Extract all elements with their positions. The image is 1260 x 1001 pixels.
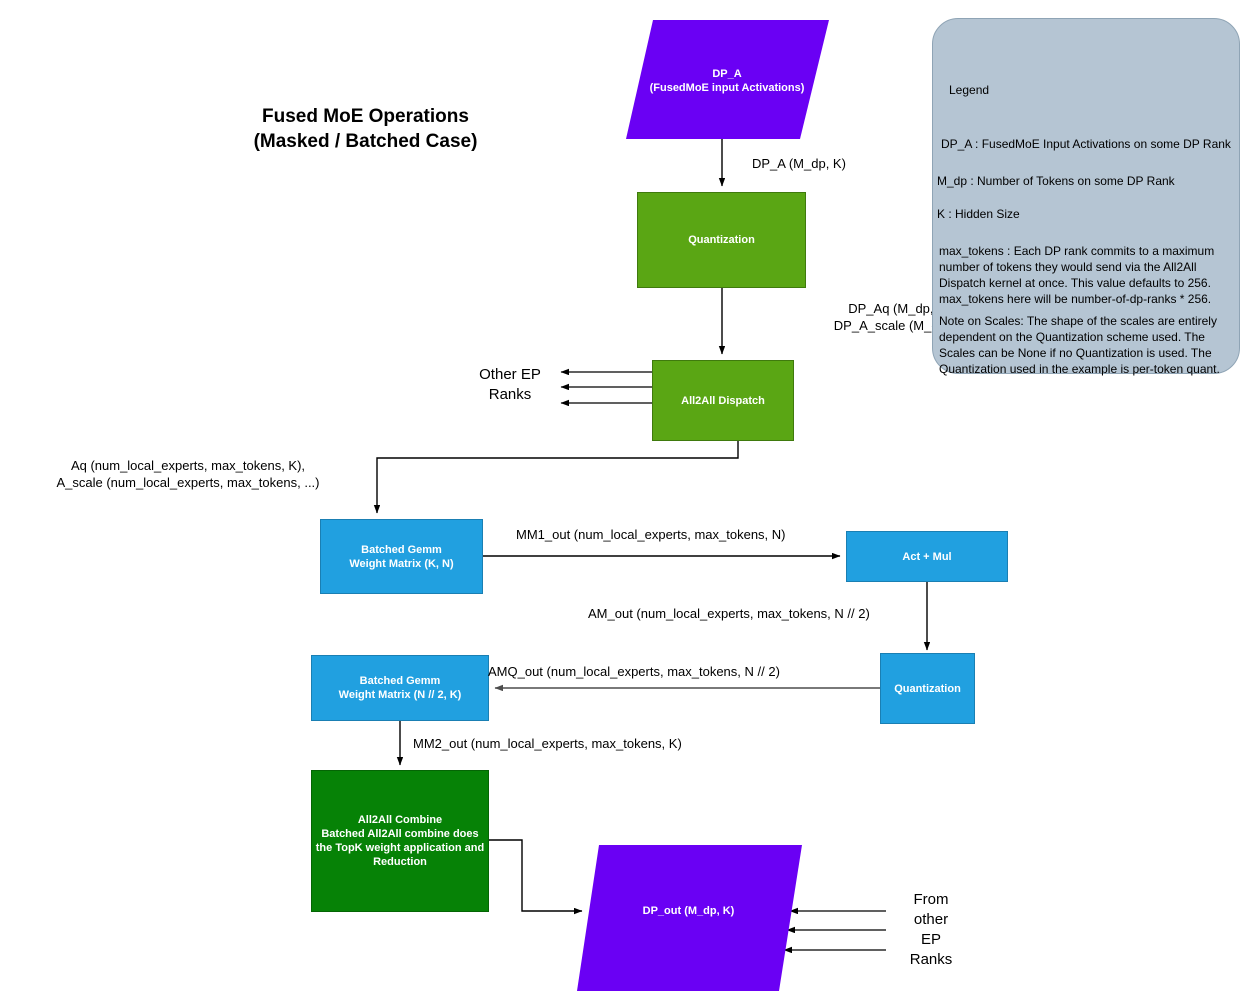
- node-dp-a[interactable]: DP_A (FusedMoE input Activations): [620, 18, 834, 142]
- edge-label-gemm1-to-actmul: MM1_out (num_local_experts, max_tokens, …: [516, 526, 856, 543]
- node-all2all-combine-label: All2All Combine Batched All2All combine …: [316, 813, 484, 869]
- page-title: Fused MoE Operations (Masked / Batched C…: [228, 104, 503, 154]
- node-batched-gemm-2[interactable]: Batched Gemm Weight Matrix (N // 2, K): [311, 655, 489, 721]
- node-act-mul[interactable]: Act + Mul: [846, 531, 1008, 582]
- diagram-canvas: Fused MoE Operations (Masked / Batched C…: [0, 0, 1260, 1001]
- legend-panel: Legend DP_A : FusedMoE Input Activations…: [932, 18, 1240, 374]
- label-from-other-ep-ranks: From other EP Ranks: [890, 890, 972, 970]
- node-batched-gemm-1[interactable]: Batched Gemm Weight Matrix (K, N): [320, 519, 483, 594]
- legend-note-max-tokens: max_tokens : Each DP rank commits to a m…: [939, 243, 1229, 307]
- node-dp-out-label: DP_out (M_dp, K): [566, 904, 811, 918]
- legend-note-scales: Note on Scales: The shape of the scales …: [939, 313, 1229, 377]
- edge-label-quant2-to-gemm2: AMQ_out (num_local_experts, max_tokens, …: [488, 663, 868, 680]
- legend-heading: Legend: [949, 83, 989, 97]
- node-all2all-dispatch-label: All2All Dispatch: [681, 394, 765, 408]
- edge-label-dispatch-to-gemm1: Aq (num_local_experts, max_tokens, K), A…: [18, 457, 358, 491]
- node-quantization-1[interactable]: Quantization: [637, 192, 806, 288]
- node-quantization-1-label: Quantization: [688, 233, 755, 247]
- node-dp-a-label: DP_A (FusedMoE input Activations): [620, 67, 834, 95]
- node-all2all-combine[interactable]: All2All Combine Batched All2All combine …: [311, 770, 489, 912]
- node-act-mul-label: Act + Mul: [902, 550, 951, 564]
- label-other-ep-ranks: Other EP Ranks: [462, 365, 558, 405]
- legend-entry-dp-a: DP_A : FusedMoE Input Activations on som…: [941, 136, 1231, 152]
- legend-entry-k: K : Hidden Size: [937, 206, 1020, 222]
- node-batched-gemm-2-label: Batched Gemm Weight Matrix (N // 2, K): [339, 674, 462, 702]
- edge-label-gemm2-to-combine: MM2_out (num_local_experts, max_tokens, …: [413, 735, 793, 752]
- legend-entry-m-dp: M_dp : Number of Tokens on some DP Rank: [937, 173, 1175, 189]
- edge-label-dp-a-to-quant: DP_A (M_dp, K): [752, 155, 962, 172]
- edge-label-actmul-to-quant2: AM_out (num_local_experts, max_tokens, N…: [588, 605, 948, 622]
- node-quantization-2[interactable]: Quantization: [880, 653, 975, 724]
- dp-out-shape: [566, 840, 811, 996]
- node-quantization-2-label: Quantization: [894, 682, 961, 696]
- node-batched-gemm-1-label: Batched Gemm Weight Matrix (K, N): [349, 543, 453, 571]
- node-all2all-dispatch[interactable]: All2All Dispatch: [652, 360, 794, 441]
- node-dp-out[interactable]: DP_out (M_dp, K): [566, 840, 811, 996]
